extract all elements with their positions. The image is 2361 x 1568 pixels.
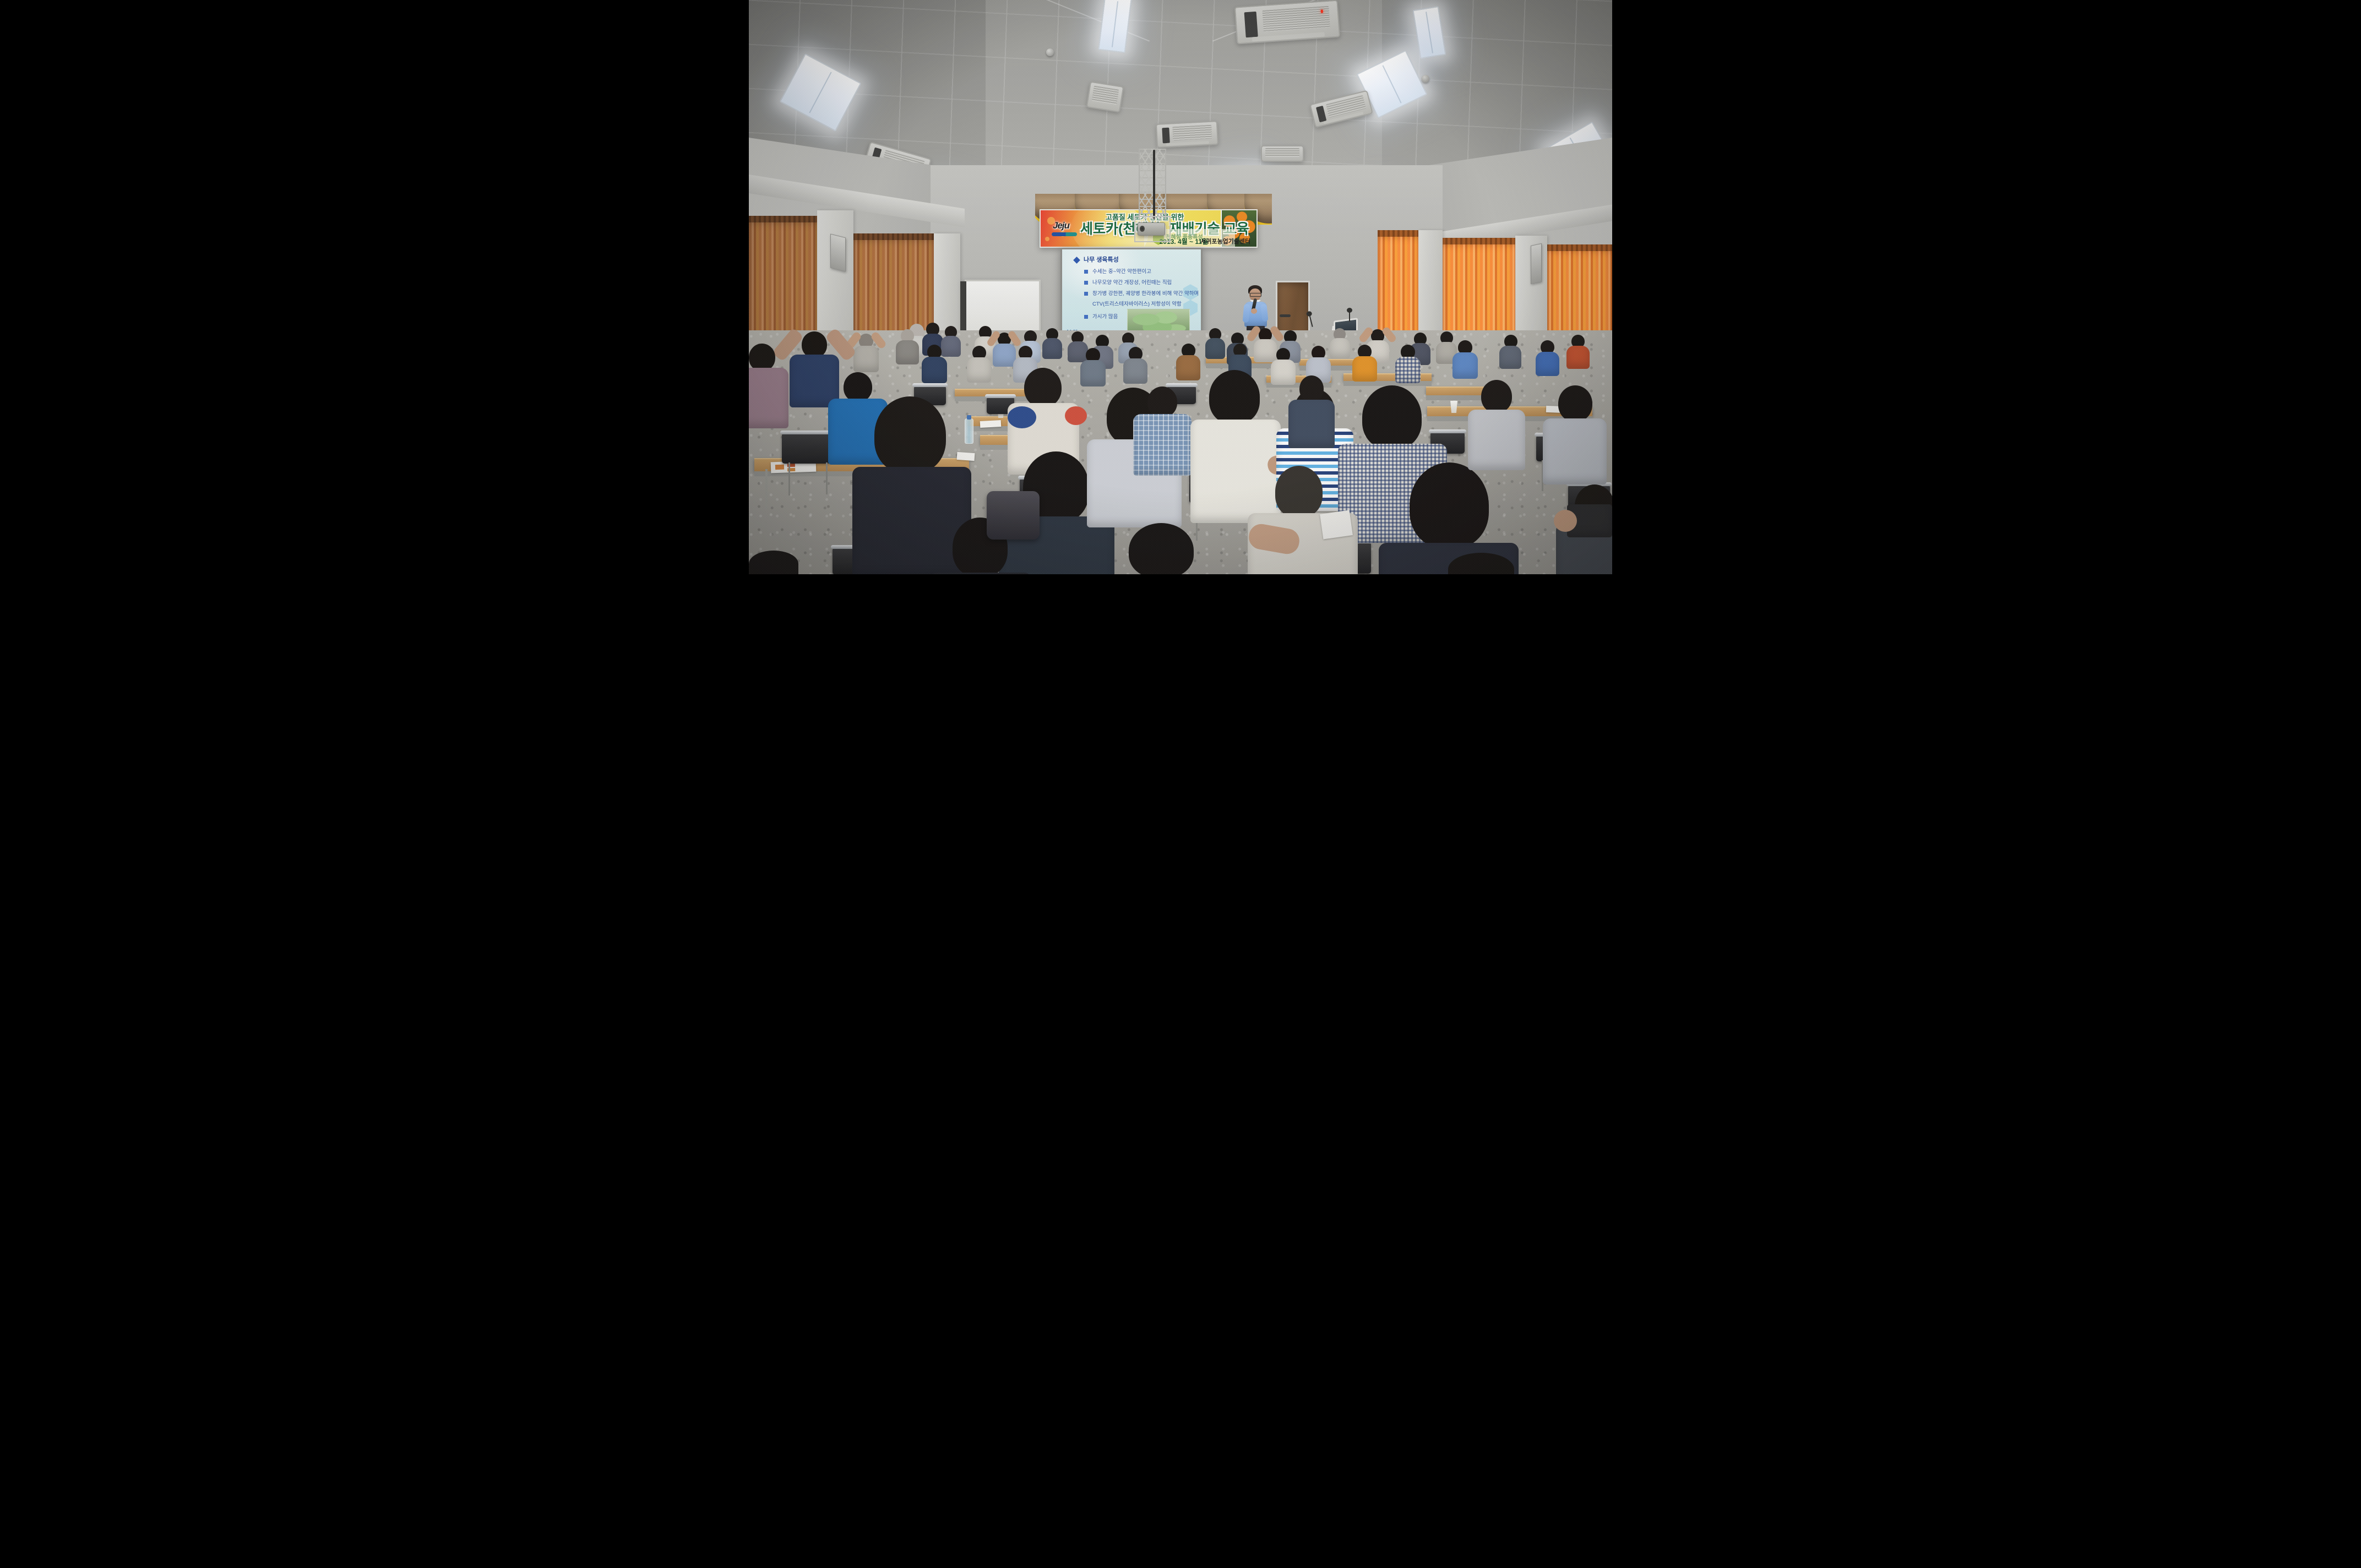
whiteboard xyxy=(965,280,1041,336)
attendee-head xyxy=(1209,370,1260,424)
attendee-torso xyxy=(1123,358,1147,384)
slide-square-bullet-icon xyxy=(1084,270,1088,274)
water-bottle xyxy=(965,418,973,444)
ac-cassette xyxy=(1234,0,1340,44)
attendee-torso xyxy=(1080,360,1106,386)
slide-diamond-bullet-icon xyxy=(1073,257,1080,264)
attendee-head xyxy=(1481,380,1512,413)
attendee-torso xyxy=(1499,346,1521,369)
attendee-torso xyxy=(1395,357,1421,383)
slide-square-bullet-icon xyxy=(1084,292,1088,296)
projector-cable xyxy=(1153,150,1155,219)
jeju-logo: Jeju xyxy=(1053,220,1069,231)
attendee-torso xyxy=(1190,420,1281,523)
attendee-head xyxy=(749,344,775,371)
lectern-microphone xyxy=(1349,312,1350,322)
attendee-head xyxy=(1362,385,1422,449)
attendee-head xyxy=(1147,386,1177,417)
attendee-head xyxy=(1024,368,1062,407)
attendee-head xyxy=(1410,462,1489,548)
banner-organizer: 서귀포농업기술센터 xyxy=(1200,237,1250,246)
attendee-head xyxy=(802,331,827,358)
attendee-head xyxy=(1129,523,1194,574)
attendee-torso xyxy=(967,357,991,383)
slide-bullet: 창가병 강한편, 궤양병 한라봉에 비해 약간 약하며 xyxy=(1084,289,1199,297)
seminar-hall-photo: Jeju 고품질 세토카 생산을 위한 세토카(천혜향) 재배기술 교육 천혜향… xyxy=(749,0,1612,574)
table-leg xyxy=(765,469,768,509)
attendee-torso xyxy=(1566,346,1590,369)
handout-sheet xyxy=(957,452,975,461)
attendee-torso xyxy=(993,344,1016,367)
slide-bullet: 나무모양 약간 개장성, 어린때는 직립 xyxy=(1084,278,1172,286)
projector-scissor-lift xyxy=(1139,149,1166,219)
attendee-head xyxy=(1299,375,1324,402)
attendee-torso xyxy=(1543,418,1607,484)
attendee-torso xyxy=(1468,410,1525,470)
slide-square-bullet-icon xyxy=(1084,315,1088,319)
attendee-shoulder xyxy=(1065,406,1087,425)
attendee-torso xyxy=(896,340,919,364)
attendee-torso xyxy=(1176,355,1200,380)
attendee-torso xyxy=(1205,338,1225,359)
wall-speaker xyxy=(1531,243,1542,284)
ceiling-projector xyxy=(1138,222,1165,236)
attendee-torso xyxy=(1271,360,1296,385)
attendee-head xyxy=(749,551,798,574)
attendee-head xyxy=(1275,466,1323,518)
presenter-hand xyxy=(1251,308,1257,314)
backpack xyxy=(987,491,1040,540)
attendee-torso xyxy=(1254,339,1277,362)
attendee-torso xyxy=(941,336,961,357)
chair-leg xyxy=(788,462,790,496)
attendee-head xyxy=(844,372,872,402)
handout-sheet xyxy=(980,420,1002,428)
jeju-logo-underline xyxy=(1052,232,1077,236)
attendee-hand xyxy=(1554,510,1577,532)
projection-screen: 나무 생육특성 수세는 중~약간 약한편이고 나무모양 약간 개장성, 어린때는… xyxy=(1060,248,1203,338)
attendee-torso xyxy=(853,346,879,372)
attendee-torso xyxy=(1133,414,1192,476)
attendee-torso xyxy=(1452,352,1478,379)
attendee-torso xyxy=(1042,338,1062,359)
attendee-torso xyxy=(922,357,947,383)
attendee-head xyxy=(874,396,946,473)
sprinkler-head xyxy=(1422,75,1429,83)
attendee-torso xyxy=(1288,400,1335,448)
attendee-torso xyxy=(749,368,788,428)
ac-cassette xyxy=(1086,81,1124,112)
presenter-arm xyxy=(1260,304,1268,322)
attendee-torso xyxy=(1352,356,1377,382)
attendee-shoulder xyxy=(1008,406,1036,428)
slide-bullet: 가시가 많음 xyxy=(1084,312,1118,320)
wall-speaker xyxy=(830,234,846,272)
slide-bullet: 수세는 중~약간 약한편이고 xyxy=(1084,267,1151,275)
attendee-torso xyxy=(1068,341,1088,362)
slide-heading: 나무 생육특성 xyxy=(1074,255,1119,264)
slide-bullet-continuation: CTV(트리스테자바이러스) 저항성이 약함 xyxy=(1092,300,1182,307)
attendee-torso xyxy=(1536,352,1559,376)
attendee-head xyxy=(1558,385,1592,422)
folding-chair[interactable] xyxy=(782,433,830,464)
handout-sheet xyxy=(1320,510,1353,539)
ac-cassette xyxy=(1156,121,1218,148)
attendee-torso xyxy=(1330,338,1350,359)
presenter-glasses xyxy=(1250,293,1261,297)
attendee-torso xyxy=(929,573,1032,574)
sprinkler-head xyxy=(1046,48,1054,56)
ac-cassette xyxy=(1261,145,1304,162)
slide-square-bullet-icon xyxy=(1084,281,1088,285)
chair-leg xyxy=(826,462,828,494)
